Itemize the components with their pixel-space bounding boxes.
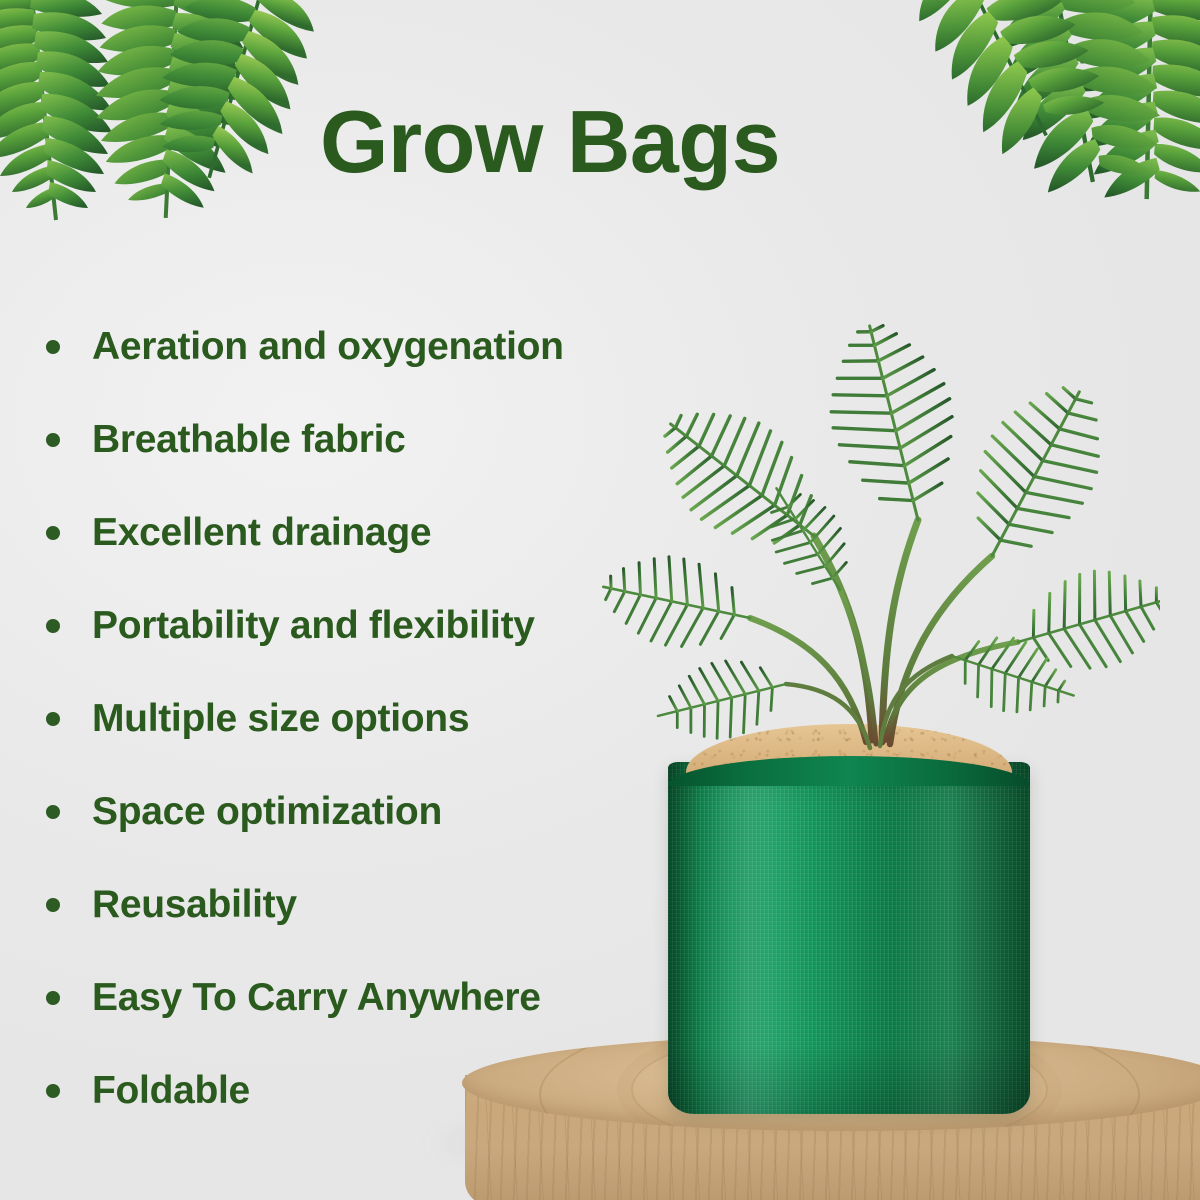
list-item: Foldable [38,1044,698,1137]
list-item: Easy To Carry Anywhere [38,951,698,1044]
feature-label: Breathable fabric [92,418,406,462]
feature-label: Multiple size options [92,697,469,741]
list-item: Aeration and oxygenation [38,300,698,393]
list-item: Space optimization [38,765,698,858]
list-item: Excellent drainage [38,486,698,579]
bullet-icon [46,526,60,540]
feature-label: Foldable [92,1069,250,1113]
list-item: Reusability [38,858,698,951]
list-item: Breathable fabric [38,393,698,486]
feature-list: Aeration and oxygenation Breathable fabr… [38,300,698,1137]
list-item: Portability and flexibility [38,579,698,672]
feature-label: Easy To Carry Anywhere [92,976,541,1020]
grow-bag [668,762,1030,1114]
bullet-icon [46,340,60,354]
feature-label: Reusability [92,883,297,927]
bullet-icon [46,712,60,726]
bullet-icon [46,1084,60,1098]
page-title: Grow Bags [0,96,1100,188]
bullet-icon [46,433,60,447]
feature-label: Excellent drainage [92,511,431,555]
feature-label: Aeration and oxygenation [92,325,564,369]
palm-stems [750,520,1018,748]
poster-canvas: Grow Bags Aeration and oxygenation Breat… [0,0,1200,1200]
bullet-icon [46,991,60,1005]
feature-label: Space optimization [92,790,442,834]
bullet-icon [46,805,60,819]
bullet-icon [46,898,60,912]
list-item: Multiple size options [38,672,698,765]
feature-label: Portability and flexibility [92,604,535,648]
bullet-icon [46,619,60,633]
